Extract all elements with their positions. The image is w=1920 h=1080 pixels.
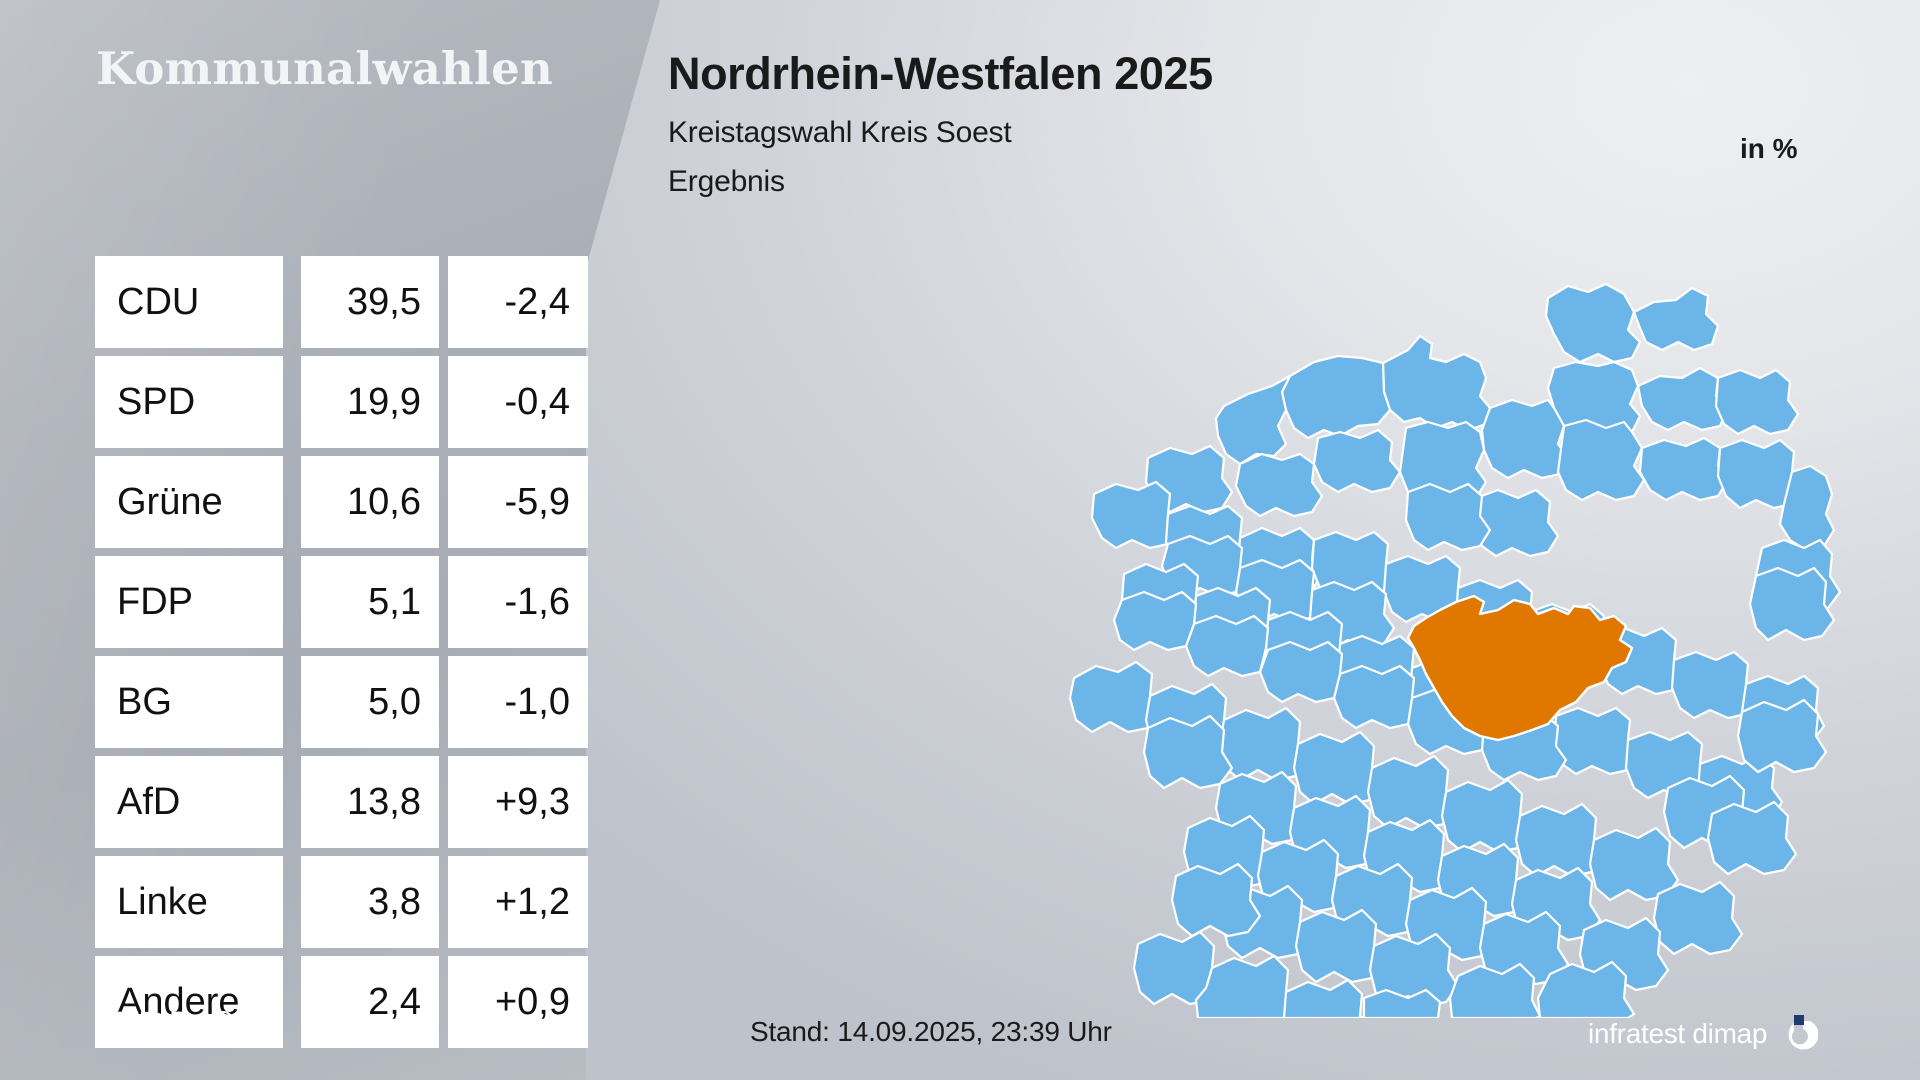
district[interactable] bbox=[1708, 802, 1796, 874]
party-change-cell: -5,9 bbox=[448, 456, 588, 548]
table-row: Linke3,8+1,2 bbox=[95, 856, 588, 948]
party-result-cell: 10,6 bbox=[301, 456, 439, 548]
party-change-cell: +0,9 bbox=[448, 956, 588, 1048]
party-name-cell: BG bbox=[95, 656, 283, 748]
party-name-cell: Linke bbox=[95, 856, 283, 948]
infratest-dimap-mark-icon bbox=[1780, 1014, 1818, 1054]
district[interactable] bbox=[1260, 642, 1342, 702]
district[interactable] bbox=[1216, 376, 1290, 464]
district[interactable] bbox=[1750, 568, 1834, 640]
ard-one-icon: 1 bbox=[213, 1011, 234, 1032]
party-change-cell: +9,3 bbox=[448, 756, 588, 848]
table-row: BG5,0-1,0 bbox=[95, 656, 588, 748]
district[interactable] bbox=[1236, 454, 1322, 516]
nrw-map-svg bbox=[1028, 258, 1848, 1018]
unit-label: in % bbox=[1740, 133, 1798, 165]
district[interactable] bbox=[1282, 356, 1390, 438]
party-result-cell: 13,8 bbox=[301, 756, 439, 848]
ard-badge-text: 1 bbox=[220, 1016, 227, 1028]
party-result-cell: 2,4 bbox=[301, 956, 439, 1048]
district[interactable] bbox=[1546, 284, 1640, 362]
district[interactable] bbox=[1186, 616, 1268, 676]
result-label: Ergebnis bbox=[668, 165, 1213, 199]
party-change-cell: -0,4 bbox=[448, 356, 588, 448]
party-name-cell: CDU bbox=[95, 256, 283, 348]
table-row: AfD13,8+9,3 bbox=[95, 756, 588, 848]
header-block: Nordrhein-Westfalen 2025 Kreistagswahl K… bbox=[668, 48, 1213, 199]
party-result-cell: 5,1 bbox=[301, 556, 439, 648]
party-change-cell: -1,6 bbox=[448, 556, 588, 648]
party-result-cell: 39,5 bbox=[301, 256, 439, 348]
table-row: Grüne10,6-5,9 bbox=[95, 456, 588, 548]
district[interactable] bbox=[1334, 666, 1414, 728]
district[interactable] bbox=[1383, 336, 1490, 430]
results-table: CDU39,5-2,4SPD19,9-0,4Grüne10,6-5,9FDP5,… bbox=[95, 256, 588, 1056]
table-row: SPD19,9-0,4 bbox=[95, 356, 588, 448]
district[interactable] bbox=[1640, 438, 1728, 500]
district[interactable] bbox=[1284, 980, 1364, 1018]
district[interactable] bbox=[1114, 592, 1196, 650]
party-change-cell: -2,4 bbox=[448, 256, 588, 348]
page-title: Nordrhein-Westfalen 2025 bbox=[668, 48, 1213, 100]
brand-headline: Kommunalwahlen bbox=[96, 42, 553, 95]
infratest-dimap-logo: infratest dimap bbox=[1588, 1014, 1818, 1054]
wdr-logo-text: WDR bbox=[96, 1008, 196, 1051]
district[interactable] bbox=[1638, 368, 1728, 430]
table-row: FDP5,1-1,6 bbox=[95, 556, 588, 648]
district[interactable] bbox=[1634, 288, 1718, 350]
district[interactable] bbox=[1474, 490, 1558, 556]
party-result-cell: 3,8 bbox=[301, 856, 439, 948]
district[interactable] bbox=[1144, 716, 1232, 788]
district[interactable] bbox=[1406, 484, 1490, 550]
district[interactable] bbox=[1738, 700, 1826, 772]
infratest-dimap-text: infratest dimap bbox=[1588, 1018, 1767, 1050]
party-name-cell: SPD bbox=[95, 356, 283, 448]
district[interactable] bbox=[1558, 420, 1644, 500]
dimap-ring-icon bbox=[1780, 1014, 1818, 1054]
election-subtitle: Kreistagswahl Kreis Soest bbox=[668, 116, 1213, 150]
district[interactable] bbox=[1172, 864, 1260, 936]
nrw-map bbox=[1028, 258, 1848, 1018]
district[interactable] bbox=[1450, 964, 1540, 1018]
party-change-cell: -1,0 bbox=[448, 656, 588, 748]
wdr-logo: WDR 1 bbox=[96, 1008, 234, 1051]
table-row: CDU39,5-2,4 bbox=[95, 256, 588, 348]
party-name-cell: FDP bbox=[95, 556, 283, 648]
timestamp: Stand: 14.09.2025, 23:39 Uhr bbox=[750, 1016, 1112, 1048]
district[interactable] bbox=[1716, 370, 1798, 434]
district[interactable] bbox=[1092, 482, 1178, 548]
district[interactable] bbox=[1654, 882, 1742, 954]
district[interactable] bbox=[1482, 400, 1568, 478]
party-change-cell: +1,2 bbox=[448, 856, 588, 948]
party-result-cell: 5,0 bbox=[301, 656, 439, 748]
district[interactable] bbox=[1314, 430, 1400, 492]
party-name-cell: AfD bbox=[95, 756, 283, 848]
party-result-cell: 19,9 bbox=[301, 356, 439, 448]
district[interactable] bbox=[1590, 828, 1678, 900]
party-name-cell: Grüne bbox=[95, 456, 283, 548]
